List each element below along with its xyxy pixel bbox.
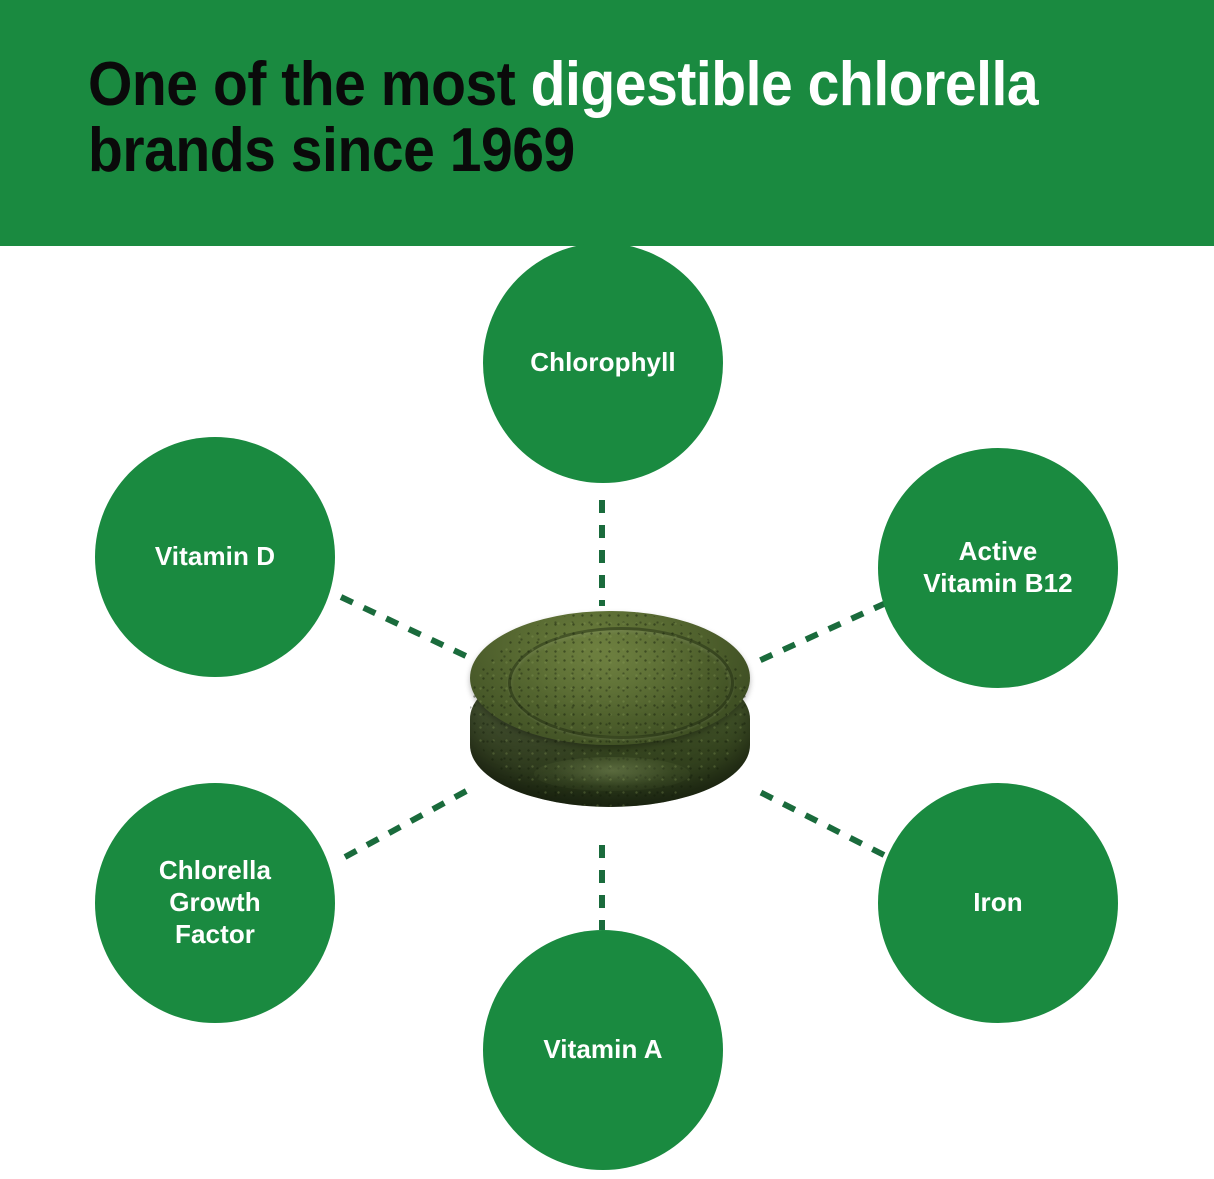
nutrient-bubble-chlorella-growth-factor[interactable]: Chlorella Growth Factor [95,783,335,1023]
connector-iron [754,789,884,855]
infographic-page: One of the most digestible chlorella bra… [0,0,1214,1179]
nutrient-label-iron: Iron [959,887,1037,919]
tablet-top-face [470,611,750,745]
tablet-emboss-ring [508,627,734,739]
nutrient-label-vitamin-d: Vitamin D [141,541,289,573]
connector-chlorella-growth-factor [345,789,470,857]
nutrient-bubble-chlorophyll[interactable]: Chlorophyll [483,243,723,483]
connector-vitamin-d [341,597,468,657]
chlorella-tablet [462,605,758,847]
nutrient-bubble-active-vitamin-b12[interactable]: Active Vitamin B12 [878,448,1118,688]
nutrient-diagram: Chlorophyll Vitamin D Active Vitamin B12… [0,0,1214,1179]
nutrient-label-chlorophyll: Chlorophyll [516,347,690,379]
nutrient-bubble-vitamin-a[interactable]: Vitamin A [483,930,723,1170]
connector-active-vitamin-b12 [752,603,886,664]
nutrient-bubble-vitamin-d[interactable]: Vitamin D [95,437,335,677]
nutrient-bubble-iron[interactable]: Iron [878,783,1118,1023]
nutrient-label-chlorella-growth-factor: Chlorella Growth Factor [145,855,285,950]
nutrient-label-active-vitamin-b12: Active Vitamin B12 [909,536,1086,599]
nutrient-label-vitamin-a: Vitamin A [529,1034,676,1066]
